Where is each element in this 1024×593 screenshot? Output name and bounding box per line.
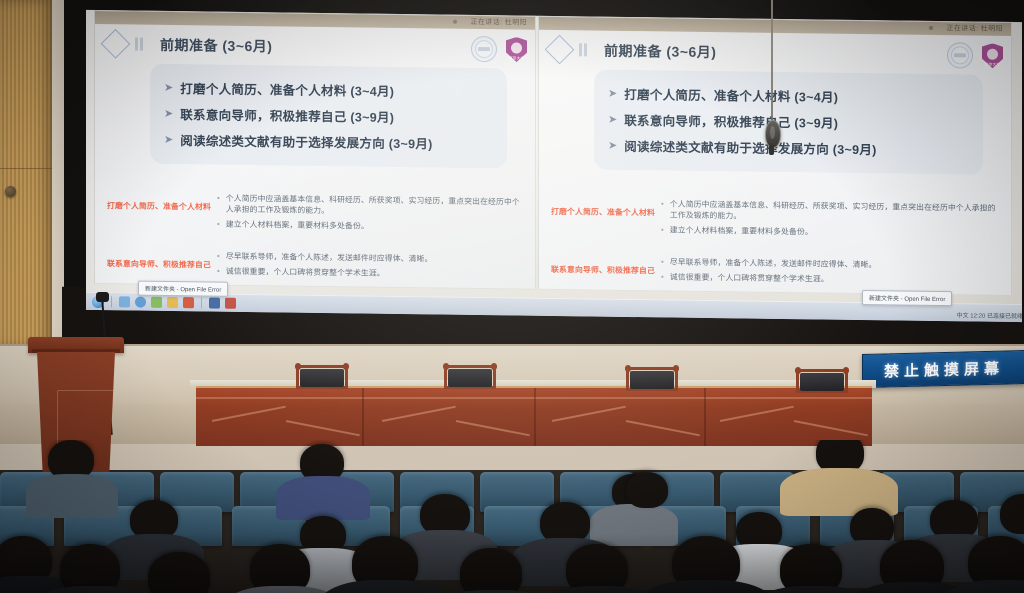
slide-title: 前期准备 (3~6月): [160, 34, 272, 55]
slide-left: 正在讲话: 杜明阳 前期准备 (3~6月) 南京大学 ➤ 打磨个人简历、准备个人…: [94, 10, 536, 290]
arrow-bullet-icon: ➤: [164, 82, 173, 95]
slide-title: 前期准备 (3~6月): [604, 40, 716, 61]
taskbar-divider: [201, 297, 202, 308]
explanation-key: 联系意向导师、积极推荐自己: [551, 255, 661, 276]
university-shield-icon: 南京大学: [506, 37, 527, 62]
arrow-bullet-icon: ➤: [164, 134, 173, 147]
university-seal-icon: [471, 36, 497, 62]
arrow-bullet-icon: ➤: [608, 88, 617, 101]
slide-right: 正在讲话: 杜明阳 前期准备 (3~6月) 南京大学 ➤ 打磨个人简历、准备个人…: [538, 16, 1012, 296]
taskbar-divider: [111, 296, 112, 307]
logo-group-right: 南京大学: [947, 42, 1003, 69]
explanation-key: 打磨个人简历、准备个人材料: [107, 191, 217, 212]
media-icon[interactable]: [151, 297, 162, 308]
bullet-line: ➤ 联系意向导师，积极推荐自己 (3~9月): [608, 114, 969, 133]
bars-icon: [135, 38, 143, 51]
dot-bullet-icon: •: [217, 251, 220, 262]
panel-knob-icon: [5, 186, 16, 197]
explanation-block-2: 联系意向导师、积极推荐自己 • 尽早联系导师，准备个人陈述，发送邮件时应得体、清…: [107, 249, 525, 284]
word-icon[interactable]: [209, 297, 220, 308]
speaker-dot-icon: [929, 26, 933, 30]
stage-chair: [296, 363, 348, 389]
speaker-dot-icon: [453, 20, 457, 24]
bullet-line: ➤ 打磨个人简历、准备个人材料 (3~4月): [164, 82, 493, 100]
dot-bullet-icon: •: [217, 193, 220, 204]
dot-bullet-icon: •: [217, 266, 220, 277]
powerpoint-icon[interactable]: [183, 297, 194, 308]
speaker-status-text: 正在讲话: 杜明阳: [947, 23, 1004, 34]
explorer-icon[interactable]: [119, 296, 130, 307]
dot-bullet-icon: •: [661, 271, 664, 282]
stage-chair: [626, 365, 678, 391]
dot-bullet-icon: •: [661, 198, 664, 209]
no-touch-screen-sign: 禁止触摸屏幕: [862, 350, 1024, 388]
audience-head: [626, 472, 668, 508]
audience-shoulders: [276, 476, 370, 520]
hanging-microphone-icon: [765, 120, 781, 148]
microphone-tip: [769, 145, 774, 155]
file-error-tooltip: 新建文件夹 - Open File Error: [138, 281, 228, 297]
slide-header-left: 前期准备 (3~6月): [105, 33, 272, 56]
slide-bullet-card-right: ➤ 打磨个人简历、准备个人材料 (3~4月) ➤ 联系意向导师，积极推荐自己 (…: [594, 70, 983, 175]
explanation-block-1: 打磨个人简历、准备个人材料 • 个人简历中应涵盖基本信息、科研经历、所获奖项、实…: [107, 191, 525, 237]
podium-top: [28, 337, 124, 353]
arrow-bullet-icon: ➤: [164, 108, 173, 121]
diamond-icon: [545, 35, 575, 65]
university-shield-icon: 南京大学: [982, 43, 1003, 68]
acoustic-wood-panel: [0, 0, 52, 348]
browser-icon[interactable]: [135, 297, 146, 308]
dot-bullet-icon: •: [661, 256, 664, 267]
file-error-tooltip-secondary: 新建文件夹 - Open File Error: [862, 290, 952, 306]
audience-shoulders: [590, 504, 678, 546]
explanation-block-2: 联系意向导师、积极推荐自己 • 尽早联系导师，准备个人陈述，发送邮件时应得体、清…: [551, 255, 1001, 291]
bullet-line: ➤ 打磨个人简历、准备个人材料 (3~4月): [608, 88, 969, 107]
tray-status-text: 中文 12:20 已连接已就绪: [957, 310, 1022, 320]
audience-area: [0, 440, 1024, 593]
explanation-key: 打磨个人简历、准备个人材料: [551, 197, 661, 218]
explanation-block-1: 打磨个人简历、准备个人材料 • 个人简历中应涵盖基本信息、科研经历、所获奖项、实…: [551, 197, 1001, 244]
podium-mic-icon: [96, 292, 109, 302]
diamond-icon: [101, 29, 131, 59]
bullet-line: ➤ 阅读综述类文献有助于选择发展方向 (3~9月): [608, 140, 969, 159]
stage-chair: [444, 363, 496, 389]
explanation-key: 联系意向导师、积极推荐自己: [107, 249, 217, 270]
lecture-hall-photo: 正在讲话: 杜明阳 前期准备 (3~6月) 南京大学 ➤ 打磨个人简历、准备个人…: [0, 0, 1024, 593]
arrow-bullet-icon: ➤: [608, 114, 617, 127]
pdf-icon[interactable]: [225, 298, 236, 309]
dais-chevron: [720, 410, 870, 436]
audience-shoulders: [26, 474, 118, 518]
bullet-line: ➤ 联系意向导师，积极推荐自己 (3~9月): [164, 108, 493, 126]
audience-head: [148, 552, 210, 593]
sign-text: 禁止触摸屏幕: [884, 357, 1004, 381]
projection-board: 正在讲话: 杜明阳 前期准备 (3~6月) 南京大学 ➤ 打磨个人简历、准备个人…: [86, 10, 1022, 322]
speaker-dais: [196, 386, 872, 446]
speaker-status-text: 正在讲话: 杜明阳: [471, 17, 528, 28]
slide-header-right: 前期准备 (3~6月): [549, 39, 716, 62]
bullet-line: ➤ 阅读综述类文献有助于选择发展方向 (3~9月): [164, 134, 493, 152]
dais-chevron: [212, 410, 362, 436]
slide-bullet-card-left: ➤ 打磨个人简历、准备个人材料 (3~4月) ➤ 联系意向导师，积极推荐自己 (…: [150, 64, 507, 169]
university-seal-icon: [947, 42, 973, 68]
bars-icon: [579, 43, 587, 56]
logo-group-left: 南京大学: [471, 36, 527, 63]
system-tray[interactable]: 中文 12:20 已连接已就绪: [957, 310, 1022, 320]
dot-bullet-icon: •: [661, 224, 664, 235]
folder-icon[interactable]: [167, 297, 178, 308]
microphone-cable: [771, 0, 773, 124]
stage-chair: [796, 367, 848, 393]
dais-chevron: [382, 410, 532, 436]
audience-head: [460, 548, 522, 593]
dais-chevron: [552, 410, 702, 436]
arrow-bullet-icon: ➤: [608, 140, 617, 153]
dot-bullet-icon: •: [217, 219, 220, 230]
